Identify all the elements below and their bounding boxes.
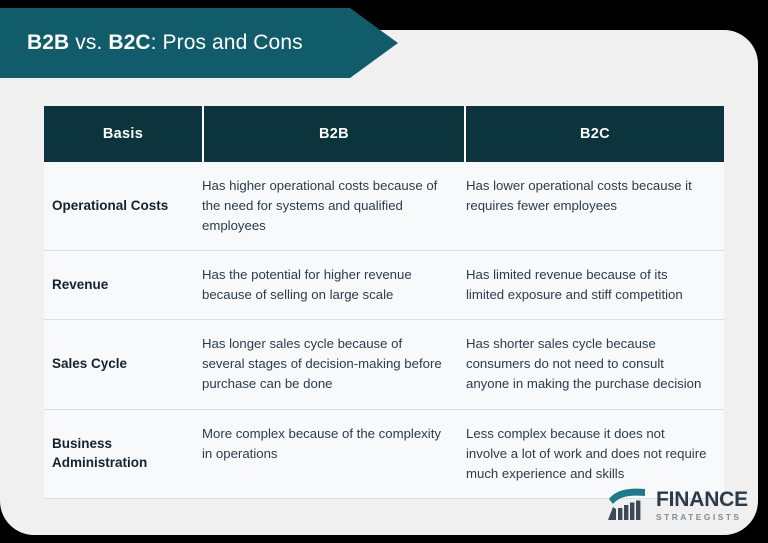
title-banner: B2B vs. B2C: Pros and Cons — [0, 8, 398, 78]
bridge-arc-bars-icon — [607, 487, 649, 523]
cell-b2c: Has shorter sales cycle because consumer… — [464, 320, 724, 408]
logo-subtitle: STRATEGISTS — [656, 513, 748, 521]
comparison-table: Basis B2B B2C Operational Costs Has high… — [44, 106, 724, 499]
row-label: Revenue — [44, 251, 202, 319]
title-mid: vs. — [69, 31, 108, 54]
title-tail: : Pros and Cons — [151, 31, 303, 54]
row-label: Operational Costs — [44, 162, 202, 250]
table-header-row: Basis B2B B2C — [44, 106, 724, 162]
title-bold-b2b: B2B — [27, 31, 69, 54]
row-label: Business Administration — [44, 410, 202, 498]
page-title: B2B vs. B2C: Pros and Cons — [0, 31, 303, 55]
table-row: Sales Cycle Has longer sales cycle becau… — [44, 320, 724, 409]
brand-logo: FINANCE STRATEGISTS — [607, 487, 748, 523]
cell-b2b: More complex because of the complexity i… — [202, 410, 464, 498]
cell-b2c: Has limited revenue because of its limit… — [464, 251, 724, 319]
column-header-b2c: B2C — [464, 106, 724, 162]
logo-wordmark: FINANCE STRATEGISTS — [656, 489, 748, 521]
cell-b2c: Has lower operational costs because it r… — [464, 162, 724, 250]
cell-b2b: Has longer sales cycle because of severa… — [202, 320, 464, 408]
logo-name: FINANCE — [656, 489, 748, 510]
cell-b2b: Has the potential for higher revenue bec… — [202, 251, 464, 319]
row-label: Sales Cycle — [44, 320, 202, 408]
title-bold-b2c: B2C — [108, 31, 150, 54]
column-header-basis: Basis — [44, 106, 202, 162]
table-row: Business Administration More complex bec… — [44, 410, 724, 499]
table-row: Operational Costs Has higher operational… — [44, 162, 724, 251]
cell-b2c: Less complex because it does not involve… — [464, 410, 724, 498]
infographic-canvas: B2B vs. B2C: Pros and Cons Basis B2B B2C… — [0, 0, 768, 543]
table-row: Revenue Has the potential for higher rev… — [44, 251, 724, 320]
cell-b2b: Has higher operational costs because of … — [202, 162, 464, 250]
column-header-b2b: B2B — [202, 106, 464, 162]
